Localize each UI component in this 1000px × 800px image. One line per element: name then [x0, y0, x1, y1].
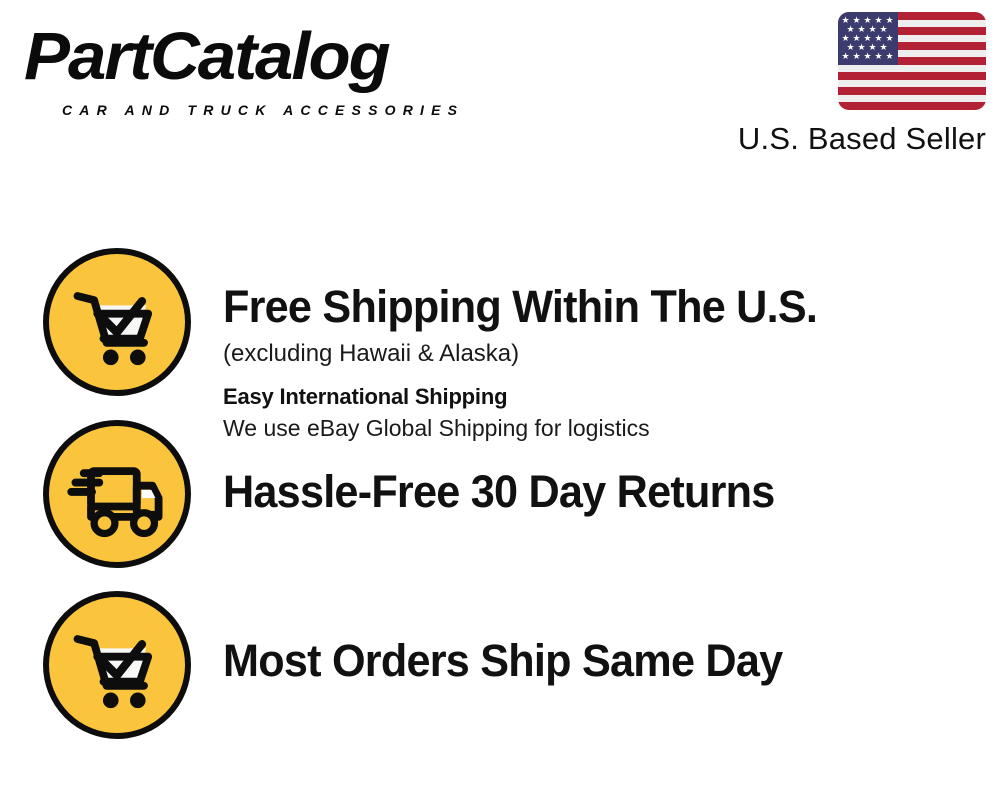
brand-tagline: CAR AND TRUCK ACCESSORIES [62, 102, 464, 118]
feature-text: Hassle-Free 30 Day Returns [223, 467, 983, 517]
feature-headline: Hassle-Free 30 Day Returns [223, 467, 953, 517]
brand-name: PartCatalog [24, 20, 508, 94]
feature-subhead: Easy International Shipping [223, 382, 983, 412]
shopping-cart-check-icon [43, 248, 191, 396]
feature-headline: Free Shipping Within The U.S. [223, 282, 953, 332]
feature-text: Most Orders Ship Same Day [223, 636, 983, 686]
feature-headline: Most Orders Ship Same Day [223, 636, 953, 686]
feature-subnote: We use eBay Global Shipping for logistic… [223, 413, 983, 444]
seller-badge: ★ ★ ★ ★ ★ ★ ★ ★ ★ ★ ★ ★ ★ ★ ★ ★ ★ ★ ★ ★ … [716, 12, 986, 157]
brand-logo: PartCatalog CAR AND TRUCK ACCESSORIES [24, 20, 494, 120]
feature-subline: (excluding Hawaii & Alaska) [223, 338, 983, 370]
page-header: PartCatalog CAR AND TRUCK ACCESSORIES ★ … [0, 0, 1000, 175]
us-flag-icon: ★ ★ ★ ★ ★ ★ ★ ★ ★ ★ ★ ★ ★ ★ ★ ★ ★ ★ ★ ★ … [838, 12, 986, 110]
feature-text: Free Shipping Within The U.S. (excluding… [223, 282, 983, 444]
shopping-cart-check-icon [43, 591, 191, 739]
delivery-truck-icon [43, 420, 191, 568]
seller-label: U.S. Based Seller [716, 121, 986, 157]
